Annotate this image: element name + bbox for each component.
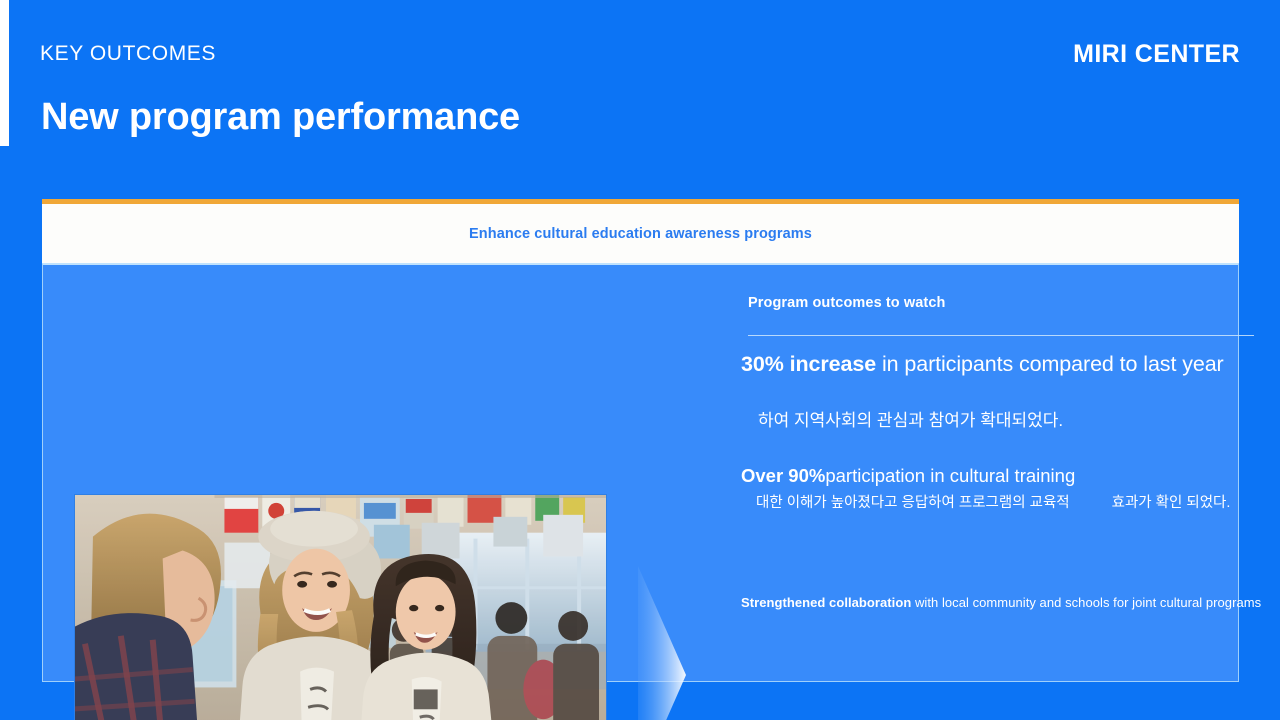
- outcome-item-2-strong: Over 90%: [741, 465, 825, 486]
- outcome-item-3-rest: with local community and schools for joi…: [911, 595, 1261, 610]
- page-eyebrow: KEY OUTCOMES: [40, 42, 216, 66]
- outcomes-divider: [748, 335, 1254, 336]
- outcome-item-2-detail-a: 대한 이해가 높아졌다고 응답하여 프로그램의 교육적: [756, 495, 1070, 511]
- outcome-item-1: 30% increase in participants compared to…: [741, 352, 1261, 377]
- slide: KEY OUTCOMES MIRI CENTER New program per…: [0, 0, 1280, 720]
- left-accent-strip: [0, 0, 9, 146]
- outcome-item-2-rest: participation in cultural training: [825, 465, 1075, 486]
- outcome-item-3-strong: Strengthened collaboration: [741, 595, 911, 610]
- page-title: New program performance: [41, 96, 520, 139]
- photo-illustration: [75, 495, 606, 720]
- program-photo: [74, 494, 607, 720]
- outcome-item-1-rest: in participants compared to last year: [876, 352, 1224, 376]
- card-body: Program Name: Cultural Diversity Educati…: [42, 263, 1239, 682]
- outcome-item-1-detail: 하여 지역사회의 관심과 참여가 확대되었다.: [758, 406, 1063, 431]
- outcome-item-2-detail-b: 효과가 확인 되었다.: [1112, 495, 1231, 511]
- outcome-item-1-strong: 30% increase: [741, 352, 876, 376]
- card-banner: Enhance cultural education awareness pro…: [42, 204, 1239, 263]
- content-card: Enhance cultural education awareness pro…: [42, 199, 1239, 682]
- outcome-item-2-detail: 대한 이해가 높아졌다고 응답하여 프로그램의 교육적효과가 확인 되었다.: [756, 491, 1230, 512]
- arrow-right-icon: [638, 566, 686, 720]
- brand-logo-text: MIRI CENTER: [1073, 40, 1240, 69]
- outcome-item-2: Over 90%participation in cultural traini…: [741, 465, 1075, 487]
- outcomes-pane: Program outcomes to watch 30% increase i…: [706, 295, 1222, 675]
- card-banner-title: Enhance cultural education awareness pro…: [469, 226, 812, 242]
- outcomes-kicker: Program outcomes to watch: [748, 295, 945, 311]
- outcome-item-3: Strengthened collaboration with local co…: [741, 595, 1261, 610]
